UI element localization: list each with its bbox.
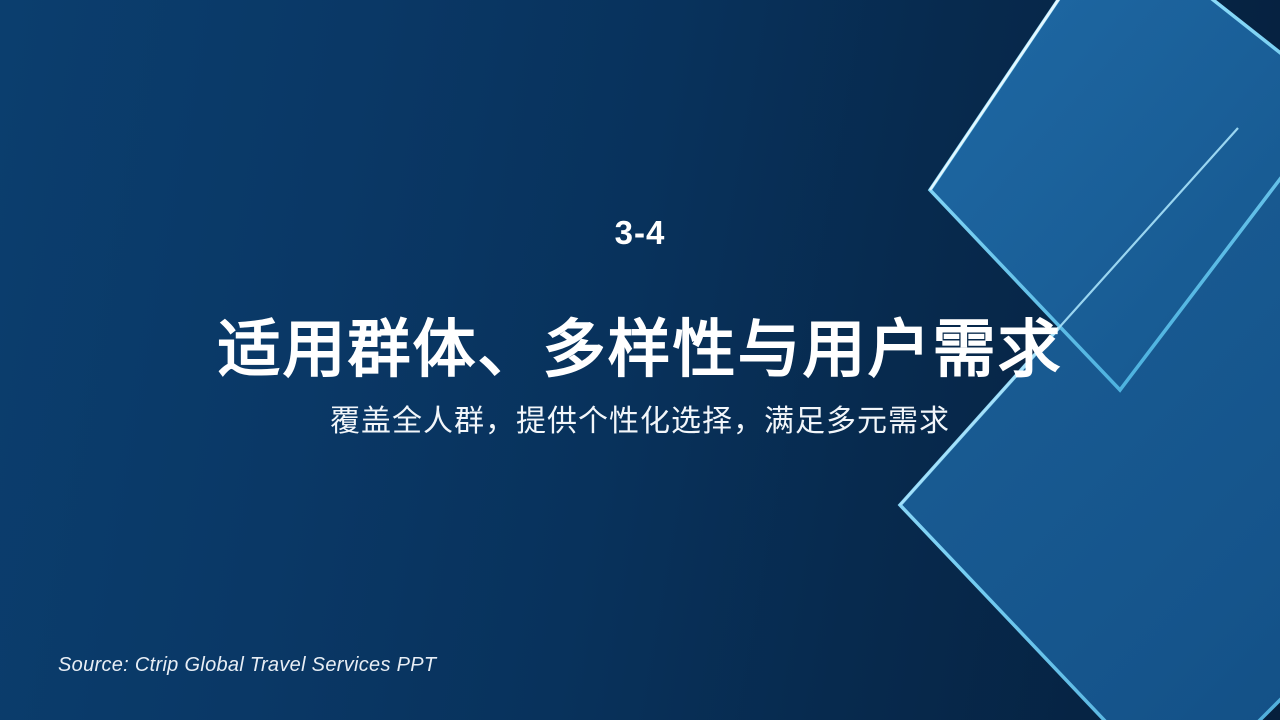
page-subtitle: 覆盖全人群，提供个性化选择，满足多元需求 <box>0 402 1280 441</box>
section-number: 3-4 <box>0 215 1280 251</box>
title-slide: 3-4 适用群体、多样性与用户需求 覆盖全人群，提供个性化选择，满足多元需求 S… <box>0 0 1280 720</box>
source-caption: Source: Ctrip Global Travel Services PPT <box>58 654 436 677</box>
page-title: 适用群体、多样性与用户需求 <box>0 314 1280 386</box>
slide-content: 3-4 适用群体、多样性与用户需求 覆盖全人群，提供个性化选择，满足多元需求 S… <box>0 0 1280 720</box>
